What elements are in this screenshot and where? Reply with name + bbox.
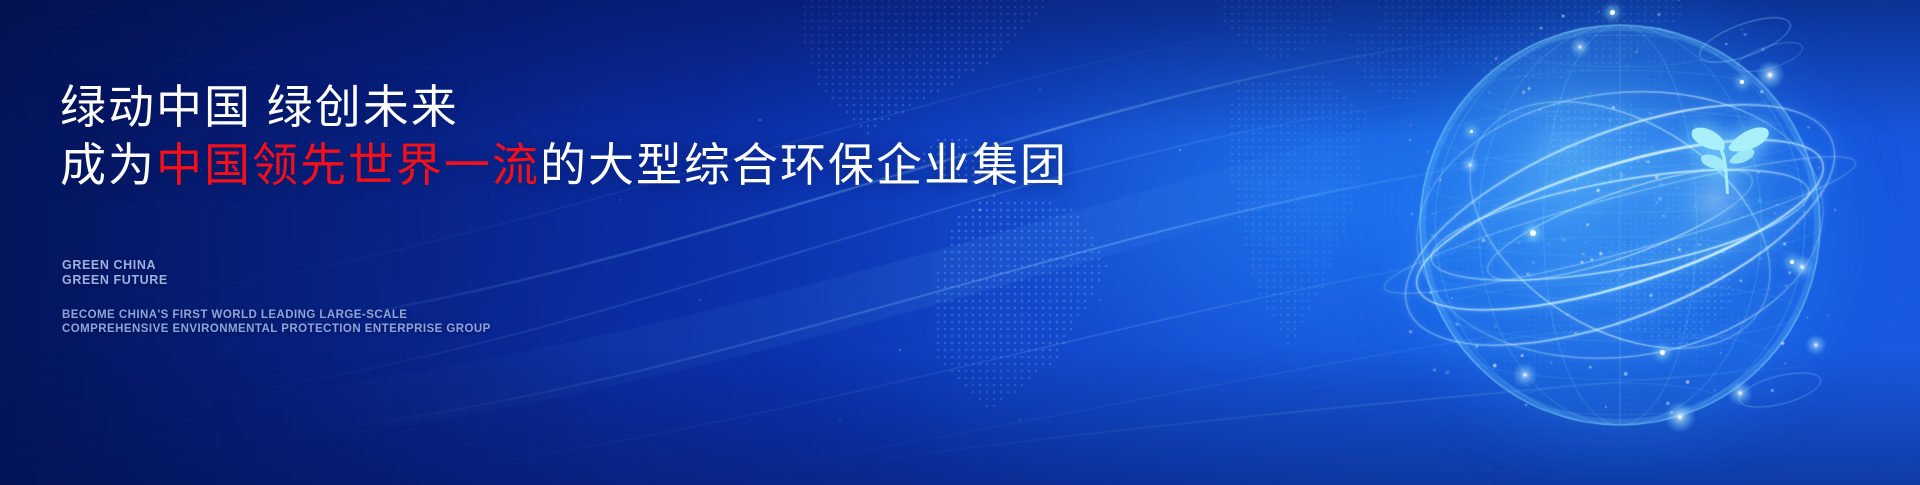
glow-particle <box>1470 130 1473 133</box>
english-slogan-line-1: GREEN CHINA <box>62 258 168 273</box>
english-description-line-2: COMPREHENSIVE ENVIRONMENTAL PROTECTION E… <box>62 322 491 336</box>
headline-line-2: 成为中国领先世界一流的大型综合环保企业集团 <box>60 136 1068 194</box>
headline-line-1: 绿动中国 绿创未来 <box>60 78 1068 136</box>
headline-line-2-highlight: 中国领先世界一流 <box>156 139 540 191</box>
glow-particle <box>1790 260 1794 264</box>
english-description: BECOME CHINA'S FIRST WORLD LEADING LARGE… <box>62 308 491 336</box>
glow-particle <box>1660 350 1665 355</box>
headline-line-2-suffix: 的大型综合环保企业集团 <box>540 139 1068 191</box>
globe-orbital-rings <box>1310 0 1920 485</box>
english-description-line-1: BECOME CHINA'S FIRST WORLD LEADING LARGE… <box>62 308 491 322</box>
headline-line-2-prefix: 成为 <box>60 139 156 191</box>
banner-text-content: 绿动中国 绿创未来 成为中国领先世界一流的大型综合环保企业集团 GREEN CH… <box>60 0 1060 485</box>
glow-particle <box>1610 10 1615 15</box>
globe-sphere-glow <box>1420 25 1820 425</box>
sprout-icon <box>1680 110 1772 196</box>
glow-particle <box>1530 230 1536 236</box>
hero-banner: 绿动中国 绿创未来 成为中国领先世界一流的大型综合环保企业集团 GREEN CH… <box>0 0 1920 485</box>
headline-block: 绿动中国 绿创未来 成为中国领先世界一流的大型综合环保企业集团 <box>60 78 1068 194</box>
globe-graphic <box>1310 0 1920 485</box>
english-slogan-line-2: GREEN FUTURE <box>62 273 168 288</box>
glow-particle <box>1740 80 1744 84</box>
english-slogan: GREEN CHINA GREEN FUTURE <box>62 258 168 288</box>
